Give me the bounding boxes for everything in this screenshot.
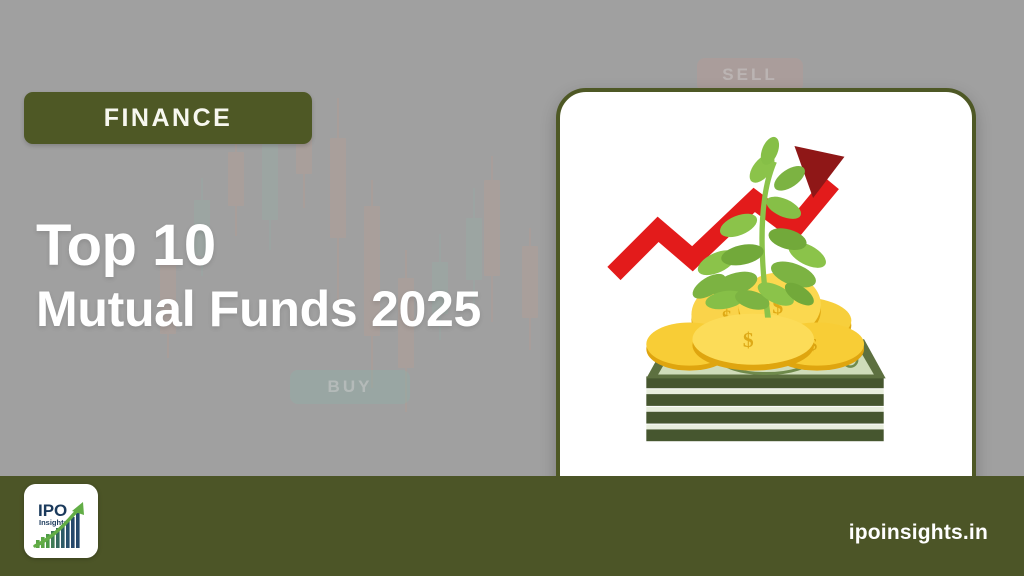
page-title: Top 10 Mutual Funds 2025 <box>36 216 481 337</box>
category-badge[interactable]: FINANCE <box>24 92 312 144</box>
category-badge-label: FINANCE <box>104 104 233 133</box>
svg-text:$: $ <box>743 328 754 352</box>
candlestick-body <box>228 152 244 206</box>
candlestick <box>484 156 500 322</box>
candlestick-body <box>262 144 278 220</box>
candlestick-body <box>522 246 538 318</box>
title-line-2: Mutual Funds 2025 <box>36 281 481 337</box>
website-url[interactable]: ipoinsights.in <box>849 521 988 545</box>
ipo-insights-logo-icon: IPO Insights <box>24 484 98 558</box>
buy-tag: BUY <box>290 370 410 404</box>
sell-tag: SELL <box>697 58 803 92</box>
illustration-card: $ $ $ $ $ <box>556 88 976 506</box>
candlestick-wick <box>529 228 531 350</box>
banner-root: BUY SELL FINANCE Top 10 Mutual Funds 202… <box>0 0 1024 576</box>
gold-coins: $ $ $ $ $ <box>646 272 864 370</box>
brand-logo[interactable]: IPO Insights <box>24 484 98 558</box>
title-line-1: Top 10 <box>36 216 481 277</box>
investment-growth-icon: $ $ $ $ $ <box>560 92 972 502</box>
candlestick-wick <box>491 156 493 322</box>
candlestick-body <box>484 180 500 276</box>
candlestick <box>522 228 538 350</box>
